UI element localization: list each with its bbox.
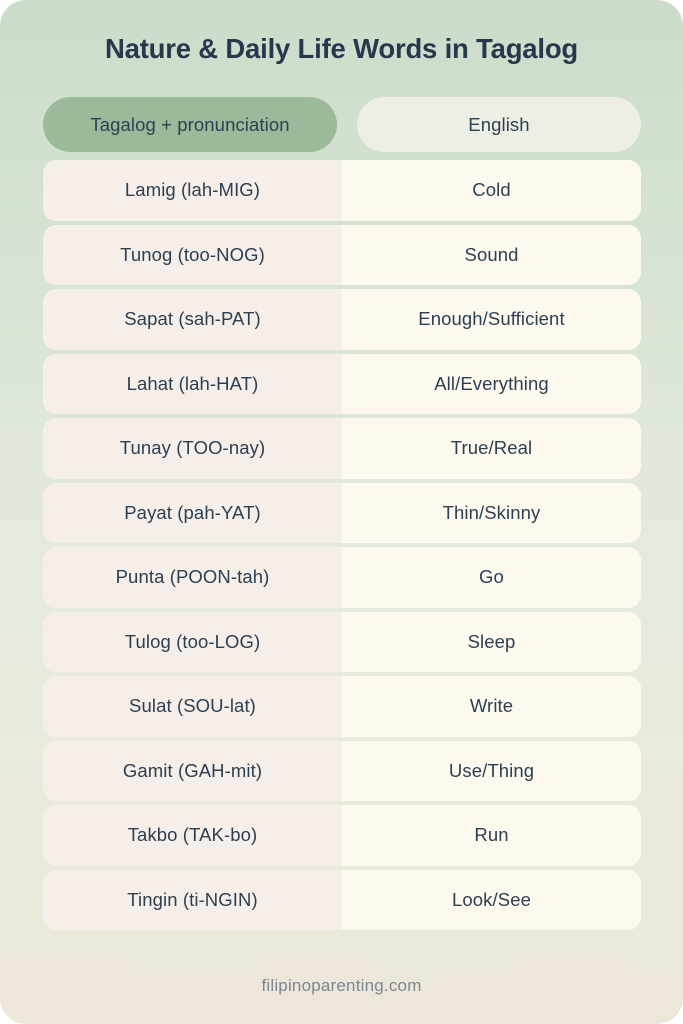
cell-english: Thin/Skinny <box>342 483 641 544</box>
cell-english: Write <box>342 676 641 737</box>
table-row: Payat (pah-YAT)Thin/Skinny <box>43 483 641 544</box>
table-row: Sapat (sah-PAT)Enough/Sufficient <box>43 289 641 350</box>
table-body: Lamig (lah-MIG)ColdTunog (too-NOG)SoundS… <box>43 160 641 930</box>
table-row: Lahat (lah-HAT)All/Everything <box>43 354 641 415</box>
table-row: Punta (POON-tah)Go <box>43 547 641 608</box>
vocabulary-table: Tagalog + pronunciation English Lamig (l… <box>43 97 641 934</box>
table-row: Tingin (ti-NGIN)Look/See <box>43 870 641 931</box>
cell-tagalog: Punta (POON-tah) <box>43 547 342 608</box>
cell-tagalog: Sapat (sah-PAT) <box>43 289 342 350</box>
table-row: Tunog (too-NOG)Sound <box>43 225 641 286</box>
cell-english: Look/See <box>342 870 641 931</box>
cell-tagalog: Tunay (TOO-nay) <box>43 418 342 479</box>
cell-english: True/Real <box>342 418 641 479</box>
column-header-english: English <box>357 97 641 152</box>
page-title: Nature & Daily Life Words in Tagalog <box>0 33 683 65</box>
table-row: Tulog (too-LOG)Sleep <box>43 612 641 673</box>
cell-tagalog: Payat (pah-YAT) <box>43 483 342 544</box>
table-row: Gamit (GAH-mit)Use/Thing <box>43 741 641 802</box>
cell-english: Run <box>342 805 641 866</box>
table-row: Lamig (lah-MIG)Cold <box>43 160 641 221</box>
cell-tagalog: Takbo (TAK-bo) <box>43 805 342 866</box>
cell-english: Use/Thing <box>342 741 641 802</box>
cell-tagalog: Gamit (GAH-mit) <box>43 741 342 802</box>
cell-tagalog: Tulog (too-LOG) <box>43 612 342 673</box>
cell-tagalog: Tingin (ti-NGIN) <box>43 870 342 931</box>
table-header-row: Tagalog + pronunciation English <box>43 97 641 152</box>
cell-english: Cold <box>342 160 641 221</box>
cell-english: Sleep <box>342 612 641 673</box>
cell-english: Sound <box>342 225 641 286</box>
infographic-card: Nature & Daily Life Words in Tagalog Tag… <box>0 0 683 1024</box>
cell-english: Enough/Sufficient <box>342 289 641 350</box>
table-row: Tunay (TOO-nay)True/Real <box>43 418 641 479</box>
cell-english: All/Everything <box>342 354 641 415</box>
cell-tagalog: Lahat (lah-HAT) <box>43 354 342 415</box>
cell-tagalog: Sulat (SOU-lat) <box>43 676 342 737</box>
footer-website: filipinoparenting.com <box>0 976 683 996</box>
table-row: Takbo (TAK-bo)Run <box>43 805 641 866</box>
table-row: Sulat (SOU-lat)Write <box>43 676 641 737</box>
cell-tagalog: Lamig (lah-MIG) <box>43 160 342 221</box>
column-header-tagalog: Tagalog + pronunciation <box>43 97 337 152</box>
header-gap <box>337 97 357 152</box>
cell-english: Go <box>342 547 641 608</box>
cell-tagalog: Tunog (too-NOG) <box>43 225 342 286</box>
